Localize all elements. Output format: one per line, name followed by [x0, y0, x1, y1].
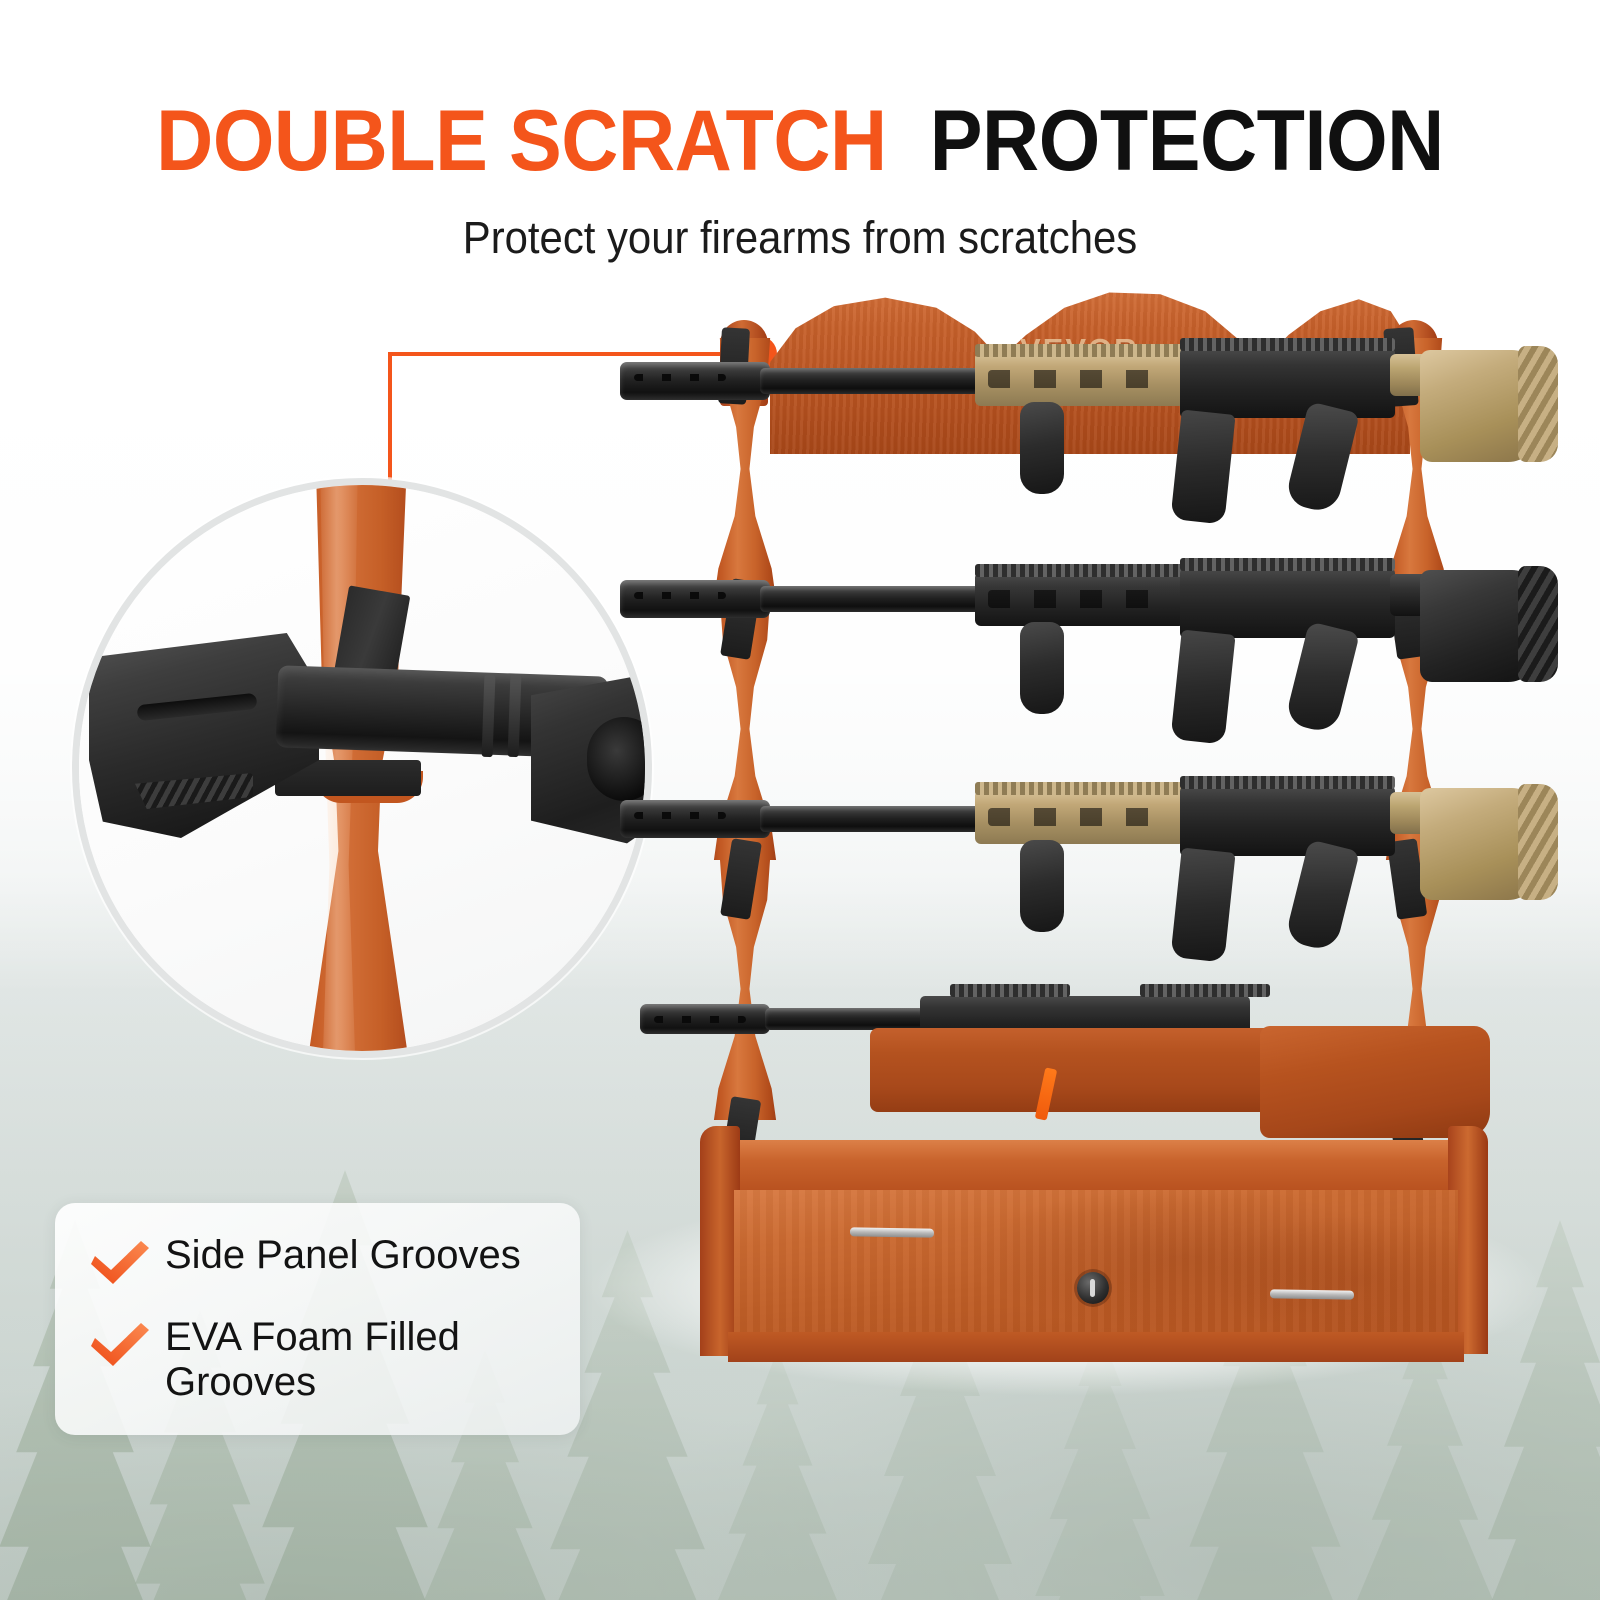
page-subtitle: Protect your firearms from scratches	[56, 212, 1544, 264]
base-bottom-rail	[728, 1332, 1464, 1362]
detail-zoom-circle	[72, 478, 652, 1058]
feature-item-2: EVA Foam Filled Grooves	[89, 1315, 495, 1405]
feature-label-1: Side Panel Grooves	[165, 1233, 521, 1278]
drawer-hinge-left	[850, 1227, 934, 1237]
headline-accent: DOUBLE SCRATCH	[156, 93, 887, 189]
page-title: DOUBLE SCRATCH PROTECTION	[64, 98, 1536, 184]
base-shelf	[722, 1140, 1468, 1192]
drawer-hinge-right	[1270, 1289, 1354, 1299]
rack-base-drawer-box	[700, 1080, 1490, 1380]
feature-label-2: EVA Foam Filled Grooves	[165, 1315, 495, 1405]
product-gun-rack: VEVOR TOUGH TOOLS, HALF PRICE	[620, 280, 1600, 1400]
drawer-keyhole-lock-icon[interactable]	[1077, 1272, 1109, 1304]
check-icon	[89, 1321, 151, 1369]
check-icon	[89, 1239, 151, 1287]
drawer-front-panel[interactable]	[734, 1190, 1458, 1338]
feature-list-card: Side Panel Grooves EVA Foam Filled Groov…	[55, 1203, 580, 1435]
feature-item-1: Side Panel Grooves	[89, 1233, 521, 1287]
headline-main: PROTECTION	[930, 93, 1444, 189]
poster-canvas: DOUBLE SCRATCH PROTECTION Protect your f…	[0, 0, 1600, 1600]
